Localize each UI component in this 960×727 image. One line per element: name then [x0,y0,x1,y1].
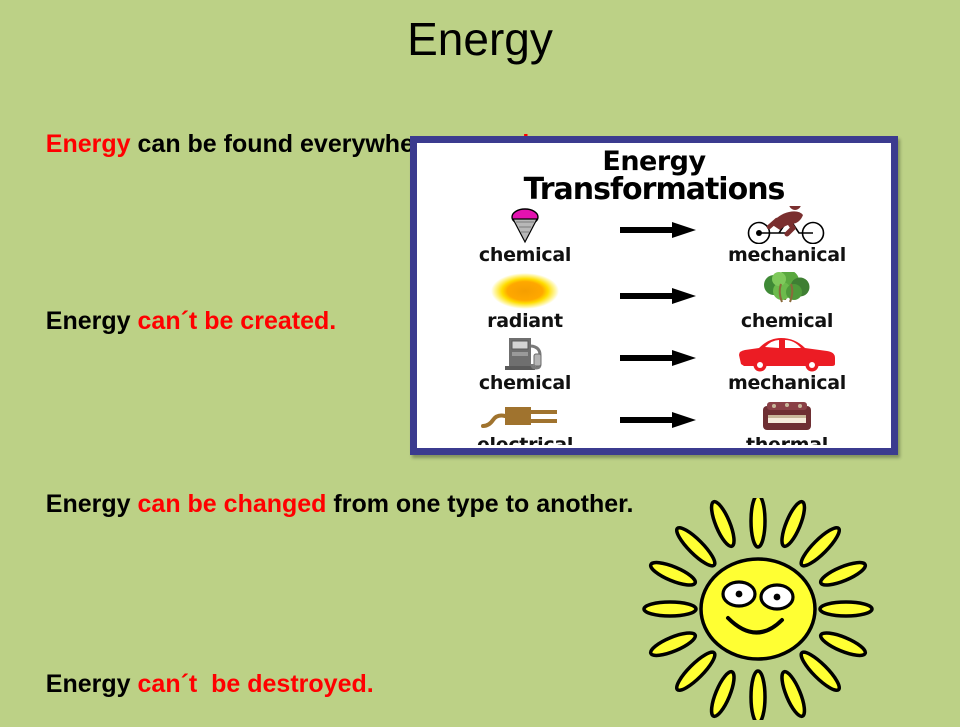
picture-title-line-2: Transformations [420,175,888,205]
transformation-row-2-source-label: radiant [430,311,620,332]
bullet-2-segment-1: Energy [46,307,131,335]
tree-icon [692,274,882,310]
transformation-row-1-target: mechanical [692,208,882,274]
bullet-line-4: Energy can´t be destroyed. [18,641,374,727]
bullet-4-segment-1: Energy [46,670,131,698]
transformation-row-1: chemical [420,208,888,274]
bullet-3-segment-3: can be changed [138,490,327,518]
bullet-4-segment-2 [131,670,138,698]
bullet-3-segment-4: from one type to another. [326,490,633,518]
transformation-row-1-target-label: mechanical [692,245,882,266]
bicycle-cyclist-icon [692,208,882,244]
gas-pump-icon [430,336,620,372]
transformation-row-4-source-label: electrical [430,435,620,445]
transformation-row-3-source-label: chemical [430,373,620,394]
transformation-row-2-source: radiant [430,274,620,340]
bullet-2-segment-2 [131,307,138,335]
arrow-right-icon-2 [620,288,696,304]
slide-canvas: Energy Energy can be found everywhere ar… [0,0,960,720]
electrical-plug-icon [430,398,620,434]
bullet-line-2: Energy can´t be created. [18,278,336,364]
car-icon [692,336,882,372]
transformation-row-3: chemical [420,336,888,402]
transformation-row-1-source-label: chemical [430,245,620,266]
transformation-row-2: radiant [420,274,888,340]
bullet-4-segment-3: can´t be destroyed. [138,670,374,698]
transformation-row-4-source: electrical [430,398,620,445]
bullet-1-segment-2: can be found everywhere [131,130,445,158]
transformation-row-1-source: chemical [430,208,620,274]
arrow-right-icon-3 [620,350,696,366]
transformation-row-3-source: chemical [430,336,620,402]
transformation-row-2-target-label: chemical [692,311,882,332]
transformation-row-4: electrical [420,398,888,445]
bullet-line-3: Energy can be changed from one type to a… [18,461,633,547]
ice-cream-cone-icon [430,208,620,244]
bullet-3-segment-1: Energy [46,490,131,518]
toaster-icon [692,398,882,434]
bullet-1-segment-1: Energy [46,130,131,158]
transformation-row-3-target: mechanical [692,336,882,402]
sun-icon [430,274,620,310]
transformation-row-2-target: chemical [692,274,882,340]
arrow-right-icon-1 [620,222,696,238]
bullet-3-segment-2 [131,490,138,518]
transformation-row-3-target-label: mechanical [692,373,882,394]
picture-title: Energy Transformations [420,148,888,205]
transformation-row-4-target-label: thermal [692,435,882,445]
bullet-2-segment-3: can´t be created. [138,307,337,335]
transformation-row-4-target: thermal [692,398,882,445]
smiling-sun-doodle [612,498,904,720]
page-title: Energy [0,14,960,65]
energy-transformations-image: Energy Transformations chemical [410,136,898,455]
arrow-right-icon-4 [620,412,696,428]
